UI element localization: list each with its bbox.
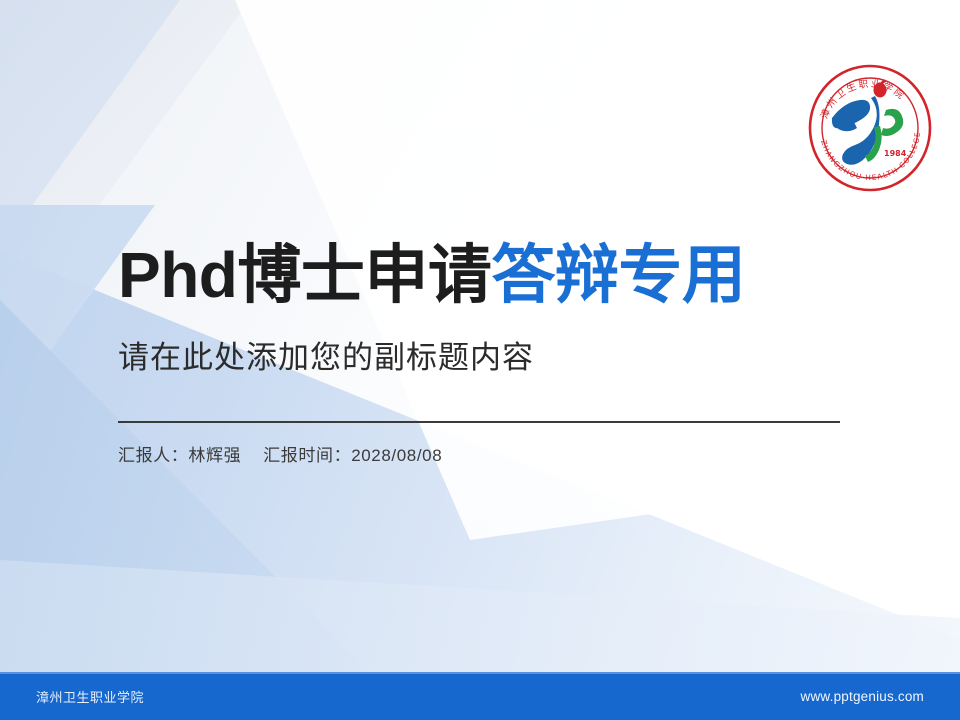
presentation-title-slide: 漳州卫生职业学院 ZHANGZHOU HEALTH COLLEGE 1984 P… [0,0,960,720]
footer-website[interactable]: www.pptgenius.com [801,689,924,704]
title-accent-text: 答辩专用 [491,239,745,311]
presentation-date: 汇报时间：2028/08/08 [263,446,442,465]
divider-rule [118,421,840,423]
title-text-block: Phd博士申请答辩专用 请在此处添加您的副标题内容 汇报人：林辉强汇报时间：20… [118,243,878,466]
svg-text:1984: 1984 [884,149,907,158]
title-primary-text: Phd博士申请 [118,239,491,311]
school-logo: 漳州卫生职业学院 ZHANGZHOU HEALTH COLLEGE 1984 [798,52,942,200]
page-title: Phd博士申请答辩专用 [118,243,878,308]
presenter-name: 汇报人：林辉强 [118,446,241,465]
footer-bar: 漳州卫生职业学院 www.pptgenius.com [0,672,960,720]
page-subtitle: 请在此处添加您的副标题内容 [118,332,878,377]
presenter-meta: 汇报人：林辉强汇报时间：2028/08/08 [118,441,878,466]
footer-institution: 漳州卫生职业学院 [36,687,144,706]
